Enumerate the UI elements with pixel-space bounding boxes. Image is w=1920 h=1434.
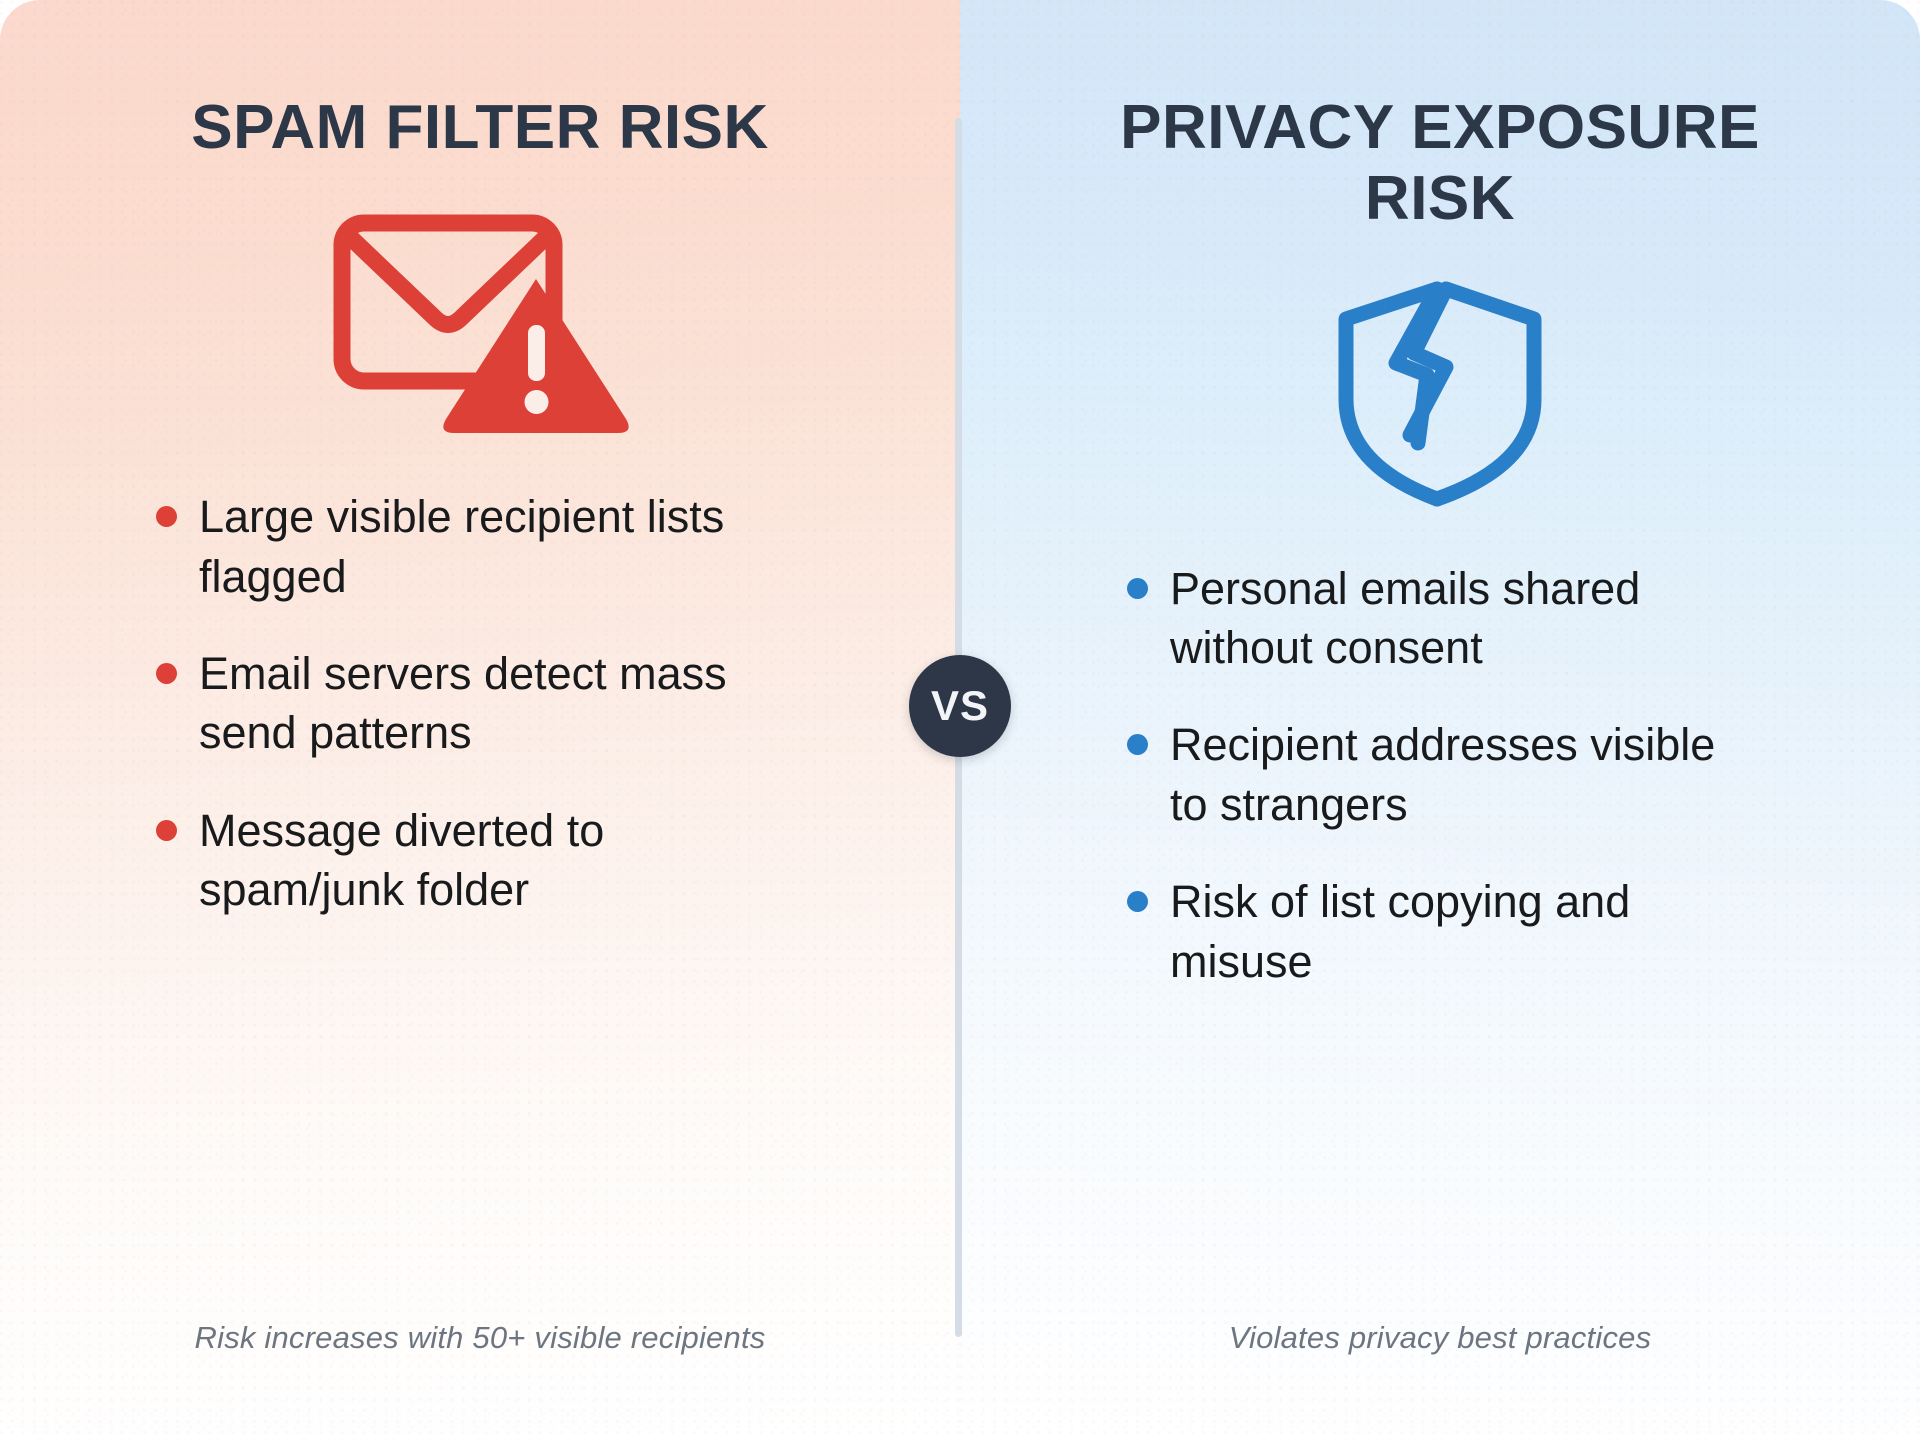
list-item-text: Personal emails shared without consent	[1170, 559, 1747, 678]
list-item-text: Message diverted to spam/junk folder	[199, 801, 776, 920]
right-footnote: Violates privacy best practices	[960, 1320, 1920, 1356]
left-column: SPAM FILTER RISK Large visible recipient…	[0, 0, 960, 1434]
left-footnote: Risk increases with 50+ visible recipien…	[0, 1320, 960, 1356]
vs-badge: VS	[909, 655, 1011, 757]
list-item: Email servers detect mass send patterns	[156, 644, 776, 763]
bullet-dot-icon	[1127, 578, 1148, 599]
list-item: Message diverted to spam/junk folder	[156, 801, 776, 920]
list-item: Personal emails shared without consent	[1127, 559, 1747, 678]
list-item-text: Recipient addresses visible to strangers	[1170, 715, 1747, 834]
list-item-text: Email servers detect mass send patterns	[199, 644, 776, 763]
right-column: PRIVACY EXPOSURE RISK Personal emails sh…	[960, 0, 1920, 1434]
list-item-text: Risk of list copying and misuse	[1170, 872, 1747, 991]
list-item: Risk of list copying and misuse	[1127, 872, 1747, 991]
bullet-dot-icon	[1127, 891, 1148, 912]
envelope-warning-icon	[330, 197, 630, 447]
list-item-text: Large visible recipient lists flagged	[199, 487, 776, 606]
broken-shield-icon	[1334, 269, 1546, 519]
list-item: Large visible recipient lists flagged	[156, 487, 776, 606]
right-bullet-list: Personal emails shared without consent R…	[1127, 559, 1747, 991]
right-column-title: PRIVACY EXPOSURE RISK	[1070, 92, 1810, 235]
comparison-infographic: SPAM FILTER RISK Large visible recipient…	[0, 0, 1920, 1434]
bullet-dot-icon	[156, 663, 177, 684]
left-bullet-list: Large visible recipient lists flagged Em…	[156, 487, 776, 919]
bullet-dot-icon	[156, 506, 177, 527]
bullet-dot-icon	[156, 820, 177, 841]
left-column-title: SPAM FILTER RISK	[110, 92, 850, 163]
list-item: Recipient addresses visible to strangers	[1127, 715, 1747, 834]
bullet-dot-icon	[1127, 734, 1148, 755]
